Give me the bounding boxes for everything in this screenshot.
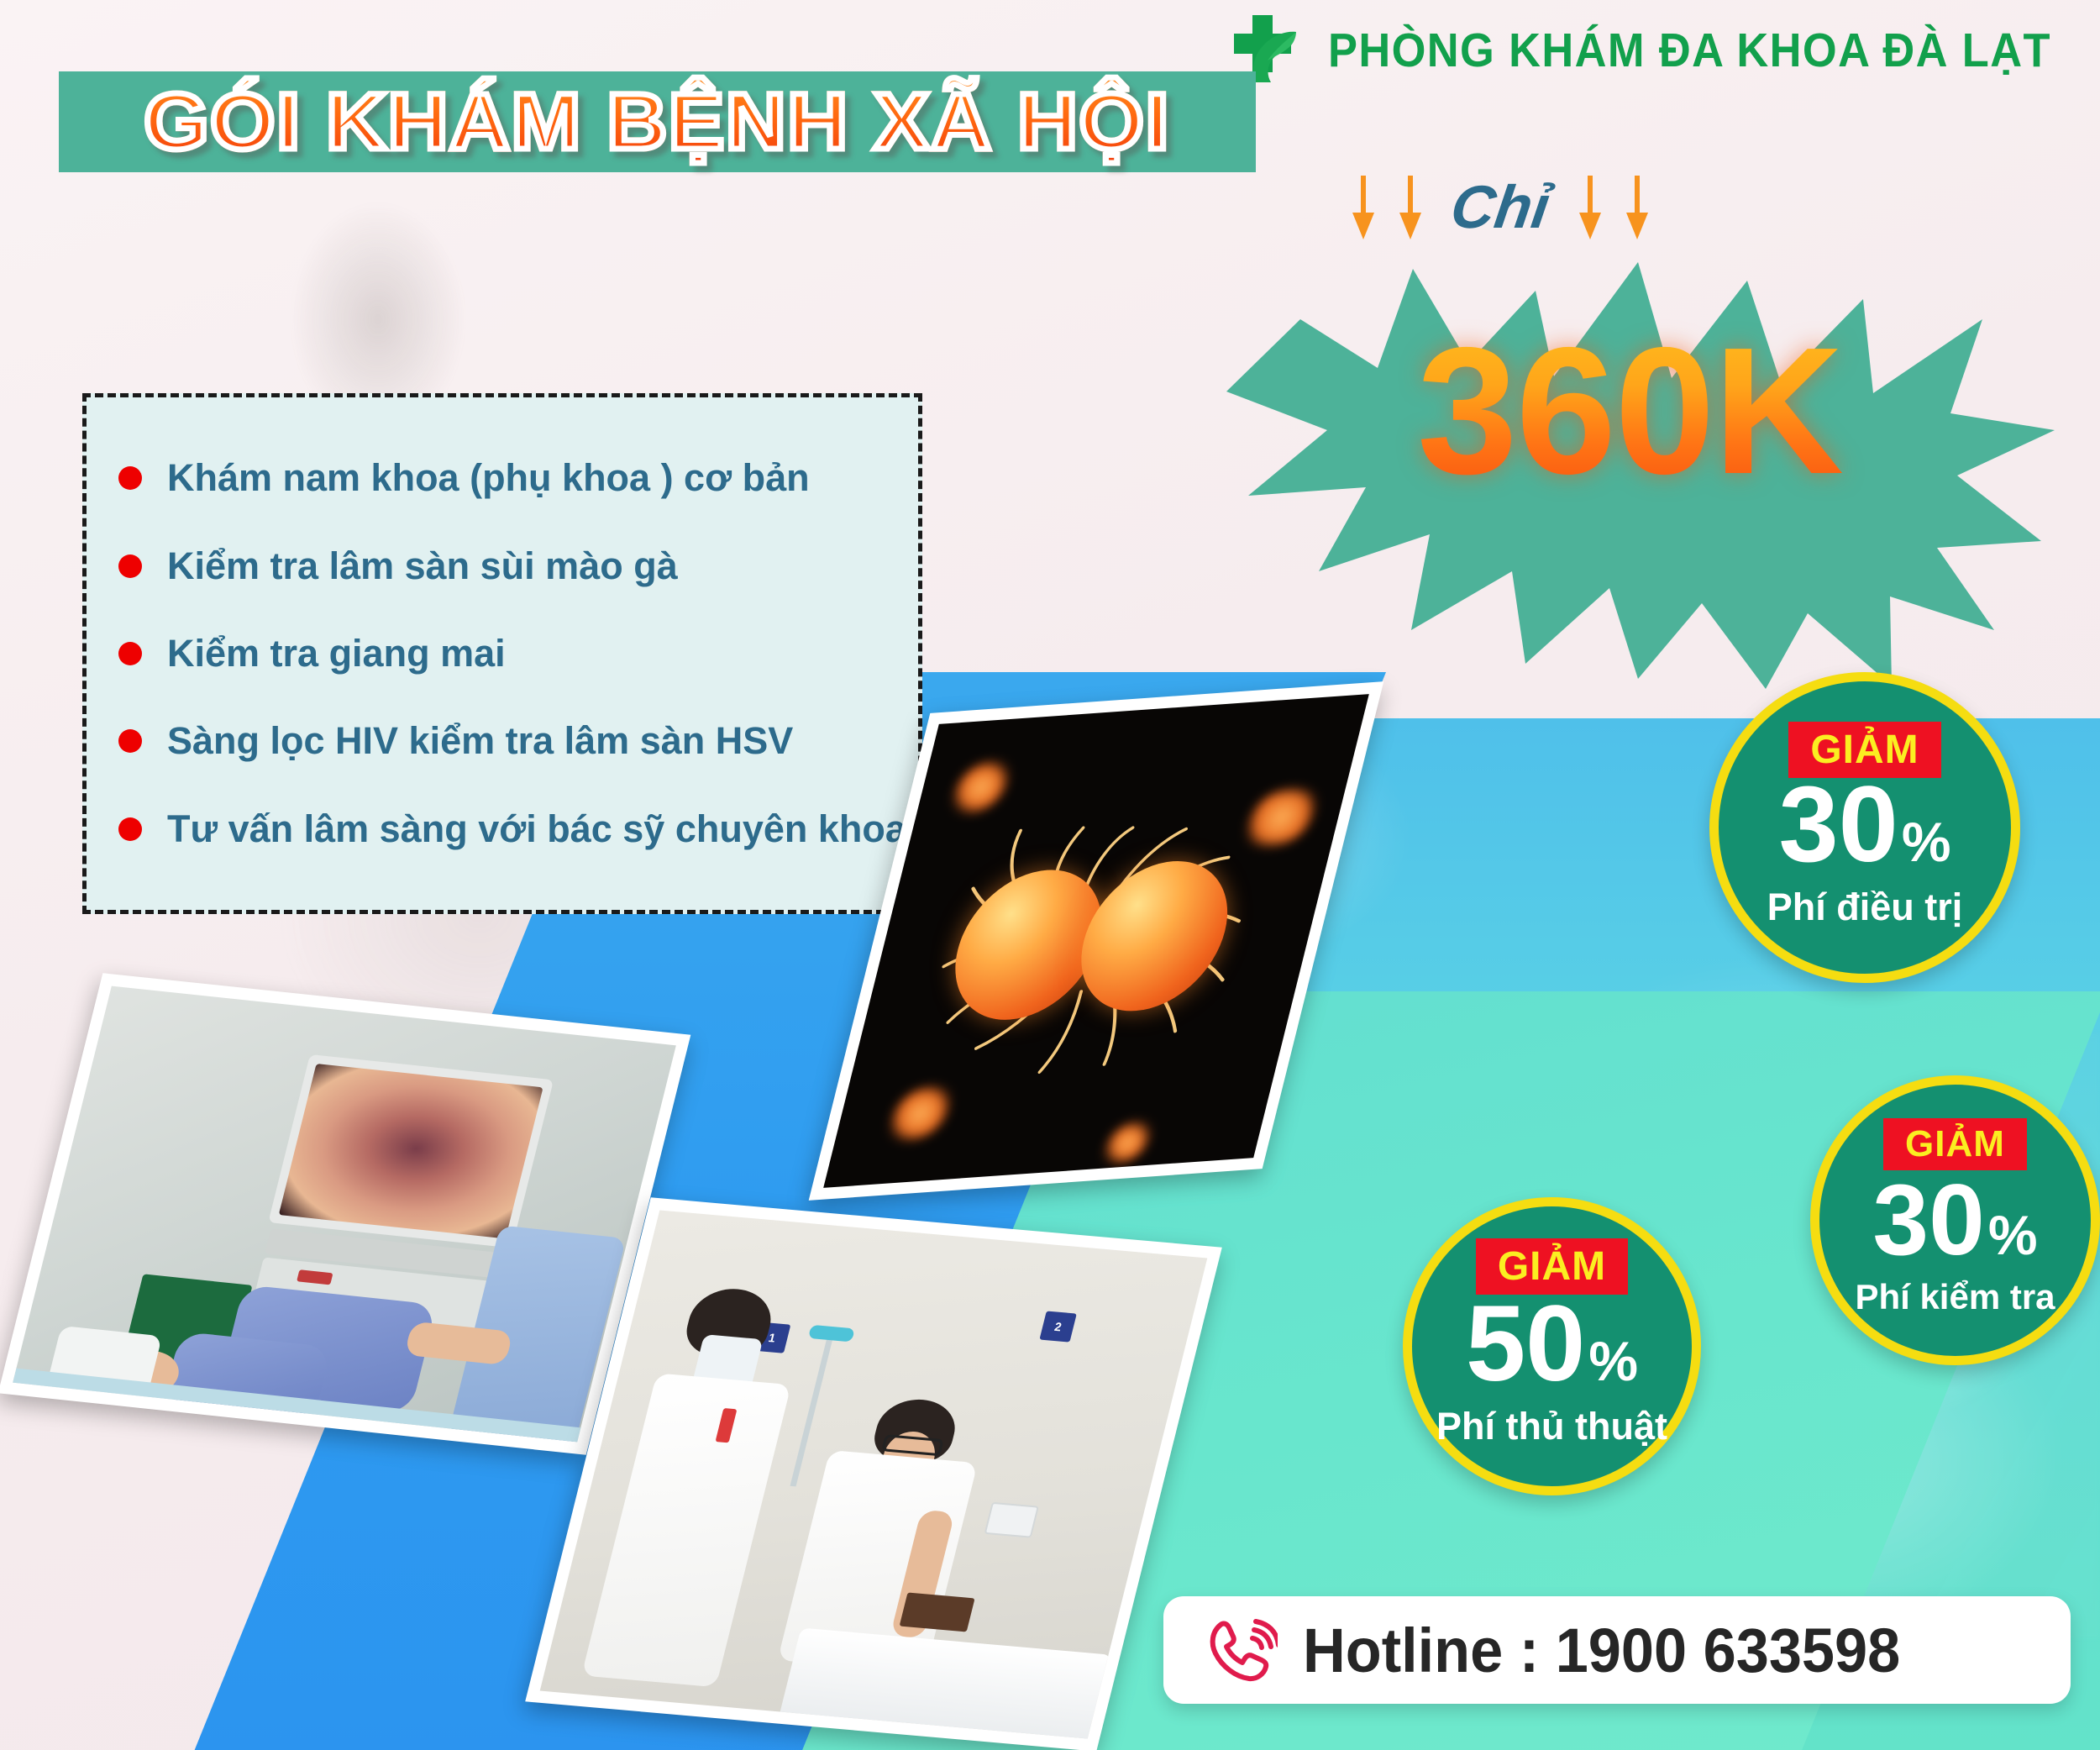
- discount-badge-procedure[interactable]: GIẢM 50 % Phí thủ thuật: [1403, 1197, 1701, 1495]
- badge-percent: 30 %: [1872, 1169, 2037, 1270]
- endoscopy-photo-image: [13, 986, 676, 1443]
- endoscopy-photo: [0, 973, 690, 1455]
- list-item: Kiểm tra giang mai: [118, 632, 886, 675]
- bullet-icon: [118, 554, 142, 578]
- discount-badge-treatment[interactable]: GIẢM 30 % Phí điều trị: [1709, 672, 2020, 983]
- doctors-photo-image: 1 2: [540, 1210, 1208, 1738]
- price-burst: Chỉ 360K: [1201, 168, 2058, 689]
- list-item: Tư vấn lâm sàng với bác sỹ chuyên khoa: [118, 807, 886, 851]
- list-item-label: Kiểm tra lâm sàn sùi mào gà: [167, 544, 678, 588]
- list-item-label: Tư vấn lâm sàng với bác sỹ chuyên khoa: [167, 807, 906, 851]
- service-list: Khám nam khoa (phụ khoa ) cơ bản Kiểm tr…: [82, 393, 922, 914]
- list-item-label: Kiểm tra giang mai: [167, 632, 506, 675]
- badge-percent-sign: %: [1902, 814, 1951, 870]
- bullet-icon: [118, 729, 142, 753]
- list-item-label: Khám nam khoa (phụ khoa ) cơ bản: [167, 456, 810, 500]
- brand-header: PHÒNG KHÁM ĐA KHOA ĐÀ LẠT: [1222, 8, 2100, 92]
- bullet-icon: [118, 817, 142, 841]
- badge-percent: 50 %: [1466, 1290, 1638, 1398]
- discount-badge-exam[interactable]: GIẢM 30 % Phí kiểm tra: [1810, 1075, 2100, 1365]
- brand-name: PHÒNG KHÁM ĐA KHOA ĐÀ LẠT: [1328, 23, 2051, 78]
- bullet-icon: [118, 466, 142, 490]
- badge-value: 50: [1466, 1290, 1585, 1398]
- bullet-icon: [118, 642, 142, 665]
- badge-tag-label: GIẢM: [1883, 1118, 2027, 1170]
- hotline-bar[interactable]: Hotline : 1900 633598: [1163, 1596, 2071, 1704]
- badge-tag-label: GIẢM: [1476, 1238, 1628, 1295]
- badge-caption: Phí kiểm tra: [1855, 1277, 2055, 1317]
- phone-ringing-icon: [1200, 1610, 1278, 1691]
- badge-percent-sign: %: [1588, 1333, 1638, 1389]
- list-item: Kiểm tra lâm sàn sùi mào gà: [118, 544, 886, 588]
- price-amount: 360K: [1201, 307, 2058, 515]
- badge-value: 30: [1872, 1169, 1984, 1270]
- list-item-label: Sàng lọc HIV kiểm tra lâm sàn HSV: [167, 719, 793, 763]
- list-item: Sàng lọc HIV kiểm tra lâm sàn HSV: [118, 719, 886, 763]
- page-title: GÓI KHÁM BỆNH XÃ HỘI: [144, 76, 1171, 168]
- hotline-text: Hotline : 1900 633598: [1303, 1615, 1900, 1686]
- badge-value: 30: [1778, 771, 1898, 879]
- badge-tag-label: GIẢM: [1788, 722, 1940, 778]
- endoscopy-monitor: [268, 1054, 554, 1248]
- title-banner: GÓI KHÁM BỆNH XÃ HỘI: [59, 71, 1256, 172]
- poster-canvas: PHÒNG KHÁM ĐA KHOA ĐÀ LẠT GÓI KHÁM BỆNH …: [0, 0, 2100, 1750]
- badge-percent-sign: %: [1988, 1207, 2038, 1263]
- list-item: Khám nam khoa (phụ khoa ) cơ bản: [118, 456, 886, 500]
- badge-caption: Phí điều trị: [1767, 886, 1963, 929]
- badge-percent: 30 %: [1778, 771, 1950, 879]
- room-plate-2: 2: [1039, 1311, 1076, 1342]
- badge-caption: Phí thủ thuật: [1436, 1405, 1667, 1448]
